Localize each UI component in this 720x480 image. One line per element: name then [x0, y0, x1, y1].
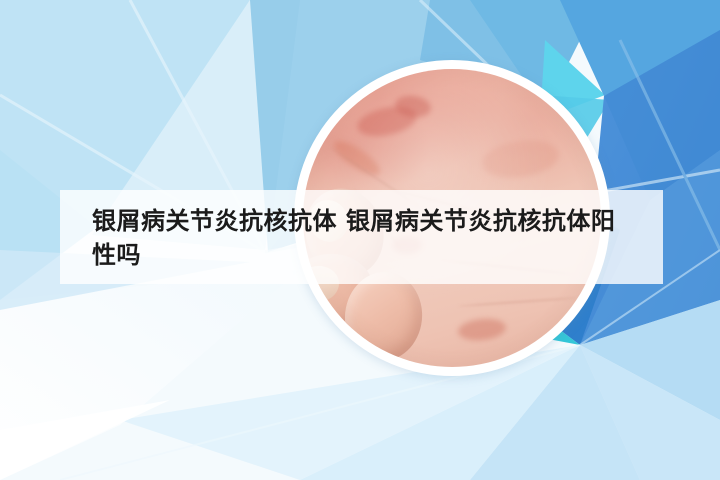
banner-image: 银屑病关节炎抗核抗体 银屑病关节炎抗核抗体阳性吗 — [0, 0, 720, 480]
headline-band: 银屑病关节炎抗核抗体 银屑病关节炎抗核抗体阳性吗 — [60, 190, 663, 284]
page-title: 银屑病关节炎抗核抗体 银屑病关节炎抗核抗体阳性吗 — [92, 204, 638, 272]
